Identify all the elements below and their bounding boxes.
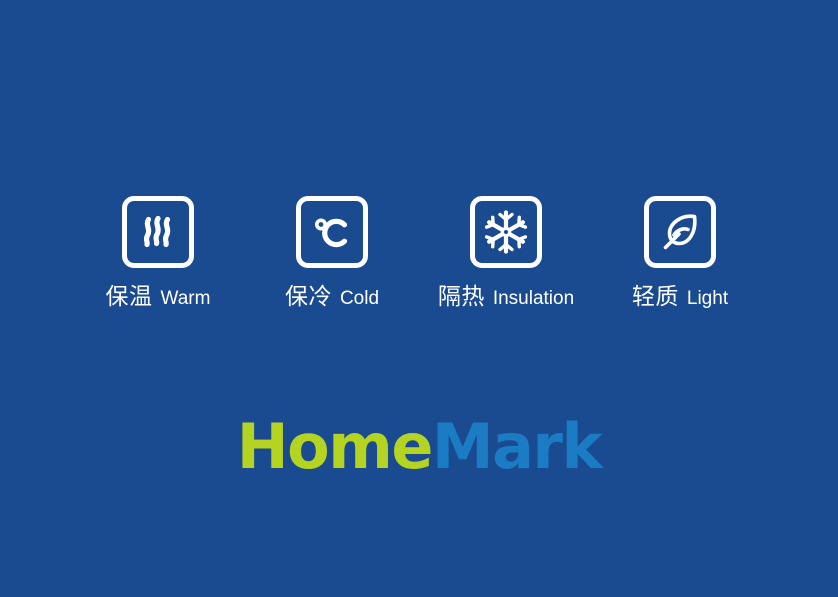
feature-label-en: Insulation xyxy=(493,289,574,308)
celsius-degree-icon-box xyxy=(296,196,368,268)
promo-banner: 保温 Warm 保冷 Cold xyxy=(0,0,838,597)
brand-logo-home: Home xyxy=(237,410,432,483)
feature-label-en: Cold xyxy=(340,289,379,308)
feature-label-cn: 轻质 xyxy=(632,286,679,309)
feature-item-light: 轻质 Light xyxy=(593,196,767,309)
snowflake-icon-box xyxy=(470,196,542,268)
feature-label-en: Light xyxy=(687,289,728,308)
feature-label-warm: 保温 Warm xyxy=(106,286,211,309)
feature-item-warm: 保温 Warm xyxy=(71,196,245,309)
heat-waves-icon-box xyxy=(122,196,194,268)
feature-label-cn: 保温 xyxy=(106,286,153,309)
feature-label-en: Warm xyxy=(161,289,211,308)
feature-label-light: 轻质 Light xyxy=(632,286,728,309)
brand-logo: HomeMark xyxy=(0,416,838,478)
feather-leaf-icon xyxy=(657,209,703,255)
celsius-degree-icon xyxy=(309,210,355,254)
heat-waves-icon xyxy=(136,210,180,254)
feature-label-cn: 隔热 xyxy=(438,286,485,309)
feature-item-cold: 保冷 Cold xyxy=(245,196,419,309)
feature-label-cold: 保冷 Cold xyxy=(285,286,379,309)
feather-leaf-icon-box xyxy=(644,196,716,268)
feature-label-cn: 保冷 xyxy=(285,286,332,309)
brand-logo-mark: Mark xyxy=(432,410,601,483)
feature-label-insulation: 隔热 Insulation xyxy=(438,286,574,309)
snowflake-icon xyxy=(483,209,529,255)
feature-item-insulation: 隔热 Insulation xyxy=(419,196,593,309)
feature-list: 保温 Warm 保冷 Cold xyxy=(0,196,838,309)
